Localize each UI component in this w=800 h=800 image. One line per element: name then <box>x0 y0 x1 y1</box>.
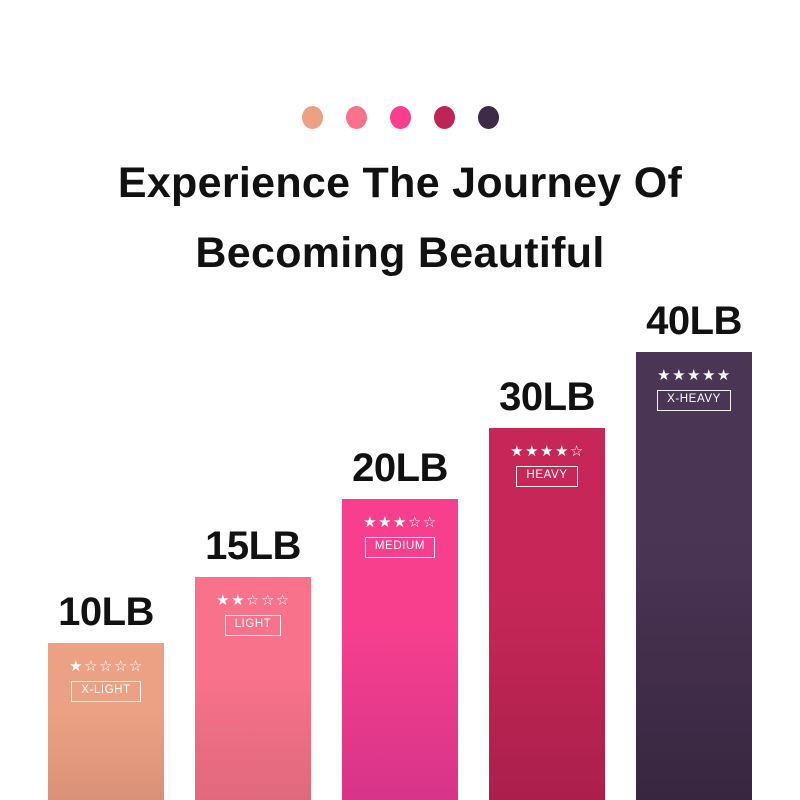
star-filled-icon: ★ <box>525 444 539 459</box>
star-filled-icon: ★ <box>657 368 671 383</box>
bar[interactable]: ★☆☆☆☆X-LIGHT <box>48 643 164 800</box>
star-filled-icon: ★ <box>702 368 716 383</box>
star-filled-icon: ★ <box>540 444 554 459</box>
bar-value-label: 15LB <box>195 526 311 577</box>
star-filled-icon: ★ <box>555 444 569 459</box>
bar-group[interactable]: 40LB★★★★★X-HEAVY <box>636 352 752 800</box>
star-filled-icon: ★ <box>231 593 245 608</box>
bar-value-label: 10LB <box>48 592 164 643</box>
star-empty-icon: ☆ <box>261 593 275 608</box>
bar-group[interactable]: 10LB★☆☆☆☆X-LIGHT <box>48 643 164 800</box>
bar-group[interactable]: 15LB★★☆☆☆LIGHT <box>195 577 311 800</box>
bar-fill <box>636 352 752 800</box>
star-filled-icon: ★ <box>393 515 407 530</box>
star-empty-icon: ☆ <box>423 515 437 530</box>
rating-stars: ★★☆☆☆ <box>216 593 290 608</box>
bar-group[interactable]: 30LB★★★★☆HEAVY <box>489 428 605 800</box>
rating-stars: ★★★★☆ <box>510 444 584 459</box>
star-filled-icon: ★ <box>216 593 230 608</box>
resistance-level-badge: X-LIGHT <box>71 681 141 702</box>
resistance-level-badge: LIGHT <box>225 615 282 636</box>
rating-stars: ★★★☆☆ <box>363 515 437 530</box>
star-empty-icon: ☆ <box>408 515 422 530</box>
star-filled-icon: ★ <box>510 444 524 459</box>
bar-annotation: ★★★★★X-HEAVY <box>636 368 752 411</box>
infographic-canvas: Experience The Journey Of Becoming Beaut… <box>0 0 800 800</box>
resistance-level-badge: X-HEAVY <box>657 390 731 411</box>
bar-annotation: ★☆☆☆☆X-LIGHT <box>48 659 164 702</box>
star-empty-icon: ☆ <box>84 659 98 674</box>
star-filled-icon: ★ <box>378 515 392 530</box>
rating-stars: ★☆☆☆☆ <box>69 659 143 674</box>
star-empty-icon: ☆ <box>246 593 260 608</box>
bar-annotation: ★★★☆☆MEDIUM <box>342 515 458 558</box>
resistance-level-badge: HEAVY <box>516 466 577 487</box>
star-filled-icon: ★ <box>717 368 731 383</box>
star-filled-icon: ★ <box>672 368 686 383</box>
bar-value-label: 20LB <box>342 448 458 499</box>
star-empty-icon: ☆ <box>114 659 128 674</box>
resistance-level-badge: MEDIUM <box>365 537 435 558</box>
bar[interactable]: ★★★★★X-HEAVY <box>636 352 752 800</box>
bar-value-label: 30LB <box>489 377 605 428</box>
star-filled-icon: ★ <box>363 515 377 530</box>
bar[interactable]: ★★★★☆HEAVY <box>489 428 605 800</box>
bar-annotation: ★★☆☆☆LIGHT <box>195 593 311 636</box>
star-empty-icon: ☆ <box>99 659 113 674</box>
bar-value-label: 40LB <box>636 301 752 352</box>
star-empty-icon: ☆ <box>129 659 143 674</box>
star-empty-icon: ☆ <box>276 593 290 608</box>
bar[interactable]: ★★☆☆☆LIGHT <box>195 577 311 800</box>
rating-stars: ★★★★★ <box>657 368 731 383</box>
bar-group[interactable]: 20LB★★★☆☆MEDIUM <box>342 499 458 800</box>
star-filled-icon: ★ <box>687 368 701 383</box>
bar[interactable]: ★★★☆☆MEDIUM <box>342 499 458 800</box>
star-filled-icon: ★ <box>69 659 83 674</box>
resistance-band-bar-chart: 10LB★☆☆☆☆X-LIGHT15LB★★☆☆☆LIGHT20LB★★★☆☆M… <box>0 0 800 800</box>
bar-annotation: ★★★★☆HEAVY <box>489 444 605 487</box>
star-empty-icon: ☆ <box>570 444 584 459</box>
